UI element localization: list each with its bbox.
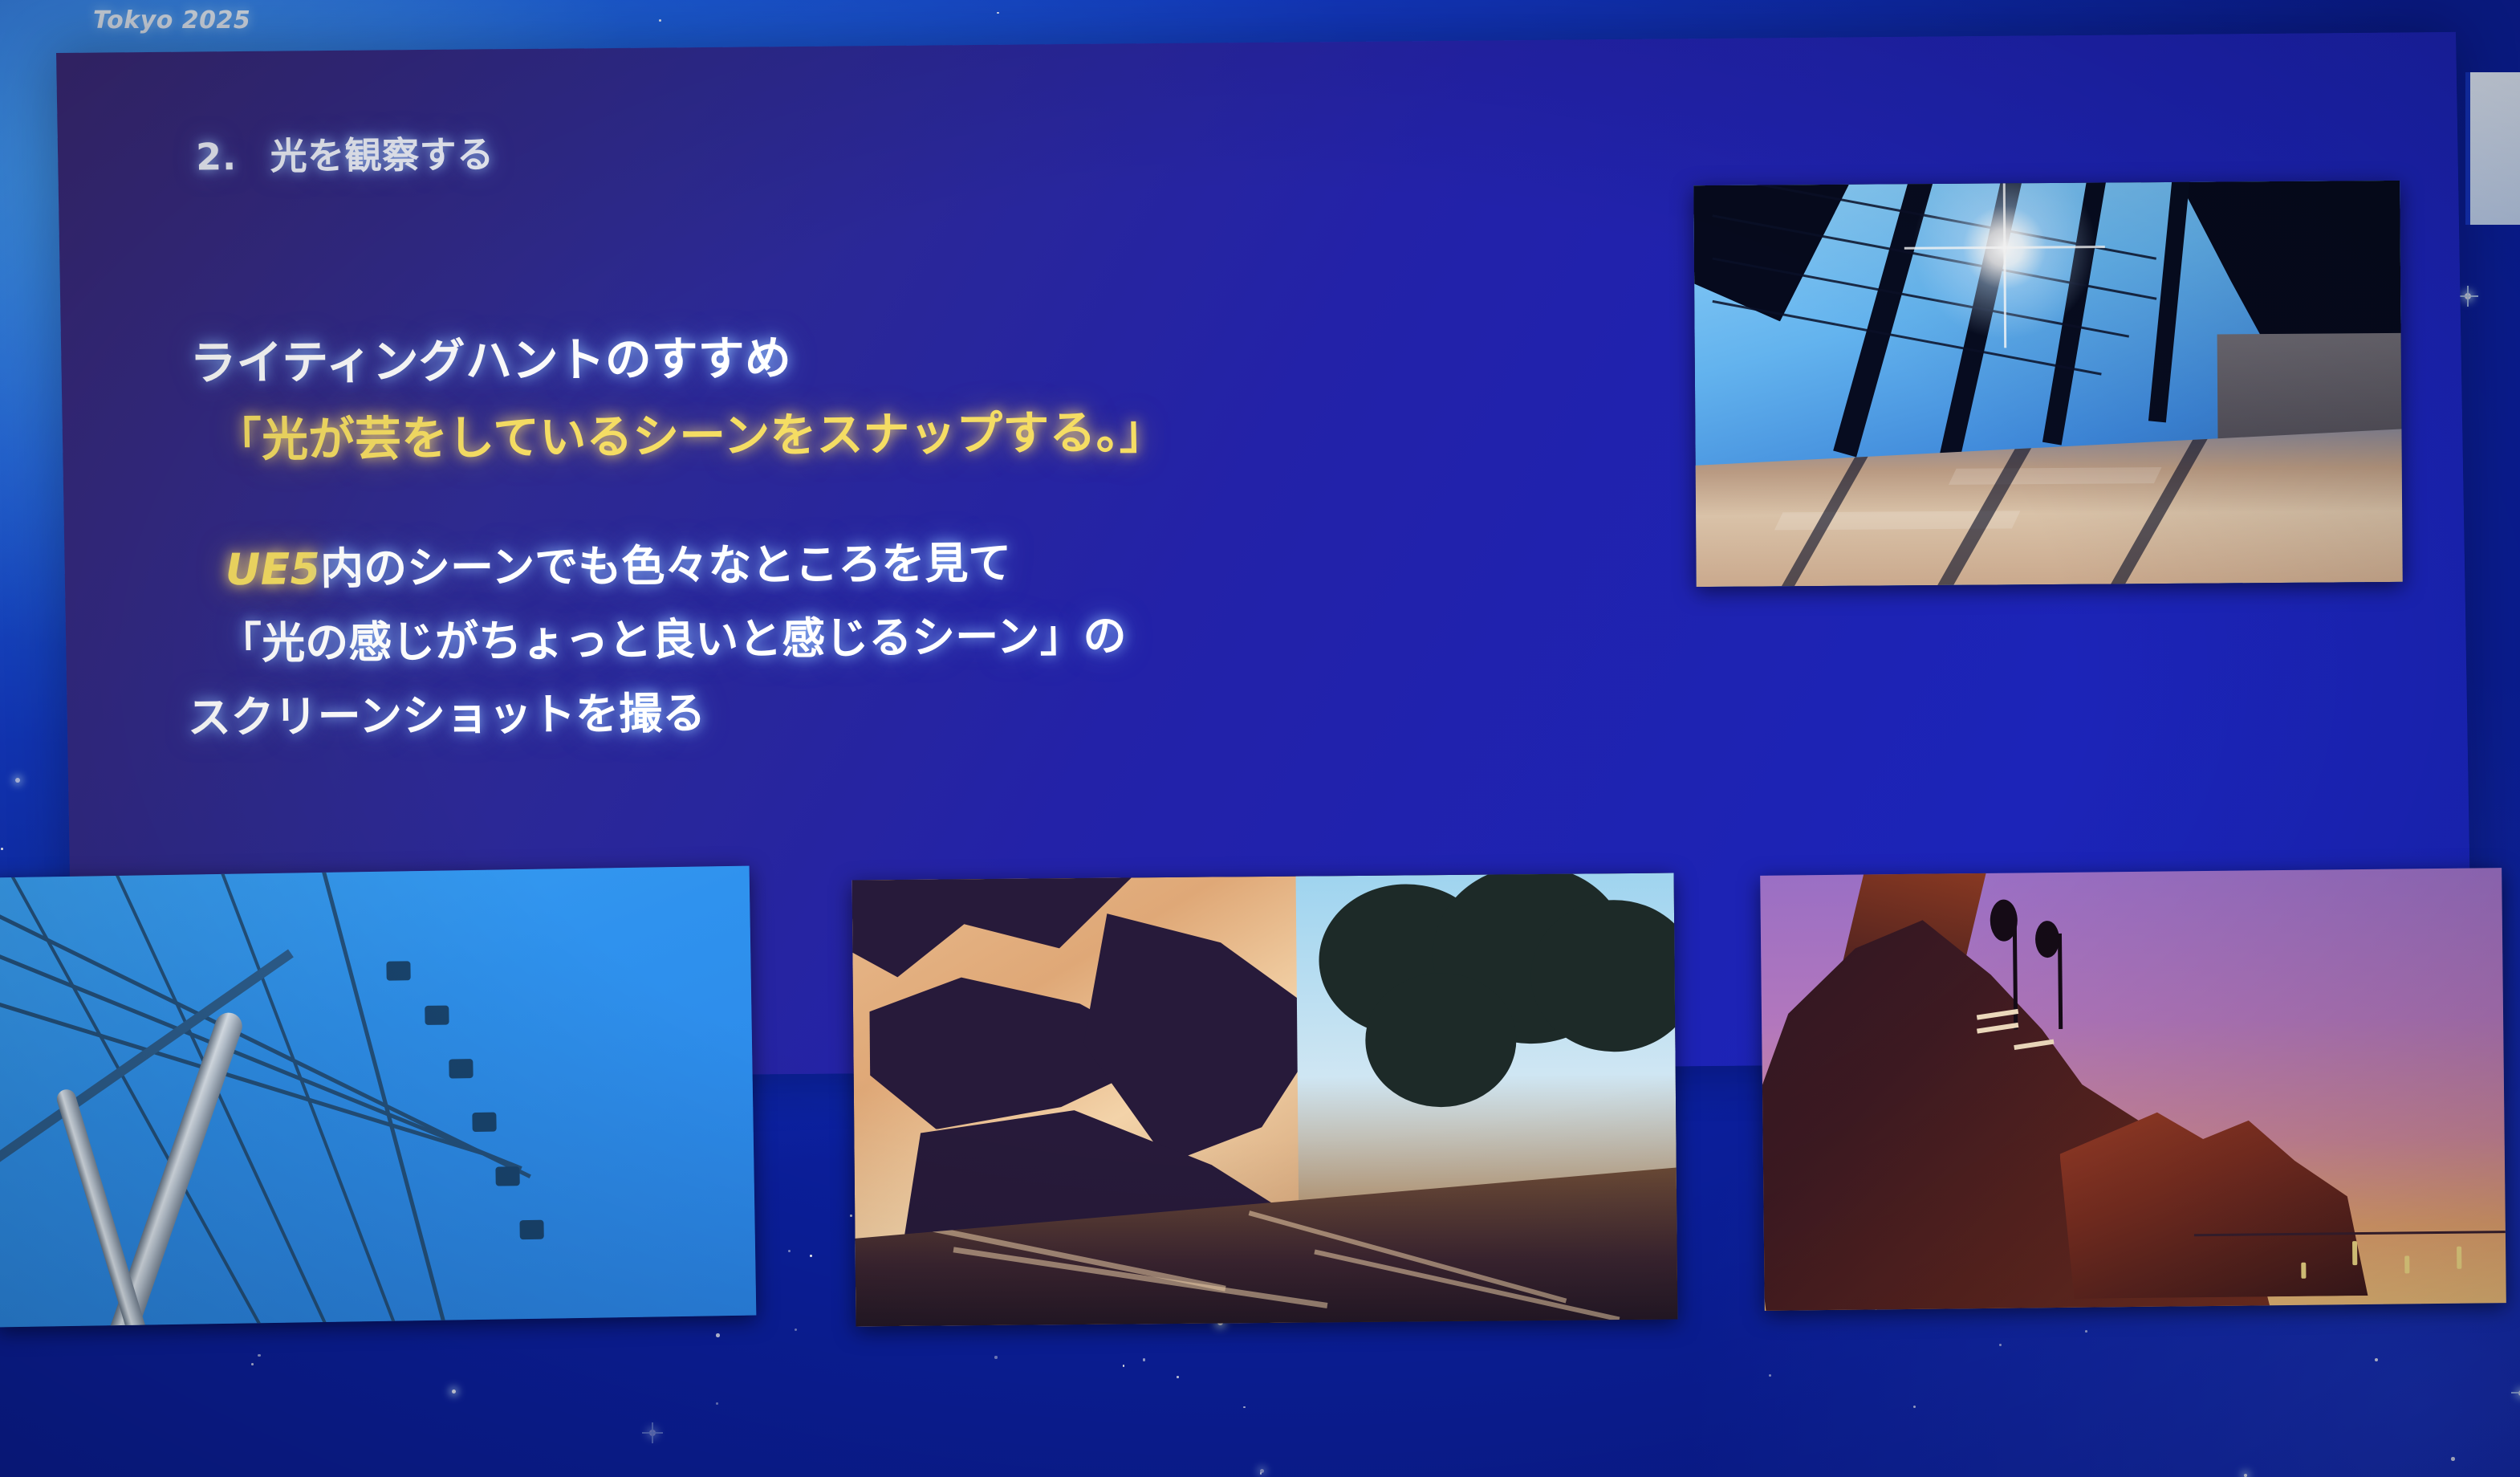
- star: [994, 1356, 997, 1358]
- excavator-city-light: [2301, 1263, 2306, 1279]
- star: [2465, 293, 2471, 299]
- adjacent-screen-edge: [2465, 72, 2520, 225]
- star: [795, 1328, 797, 1331]
- bikes-light-streak: [1315, 1250, 1620, 1322]
- slide-paragraph-2: UE5内のシーンでも色々なところを見て 「光の感じがちょっと良いと感じるシーン」…: [193, 525, 1128, 755]
- bikes-light-streak: [953, 1247, 1327, 1308]
- star: [1913, 1406, 1916, 1408]
- excavator-city-light: [2404, 1255, 2409, 1273]
- event-badge-tokyo-2025: Tokyo 2025: [93, 6, 250, 35]
- projected-presentation-screen: Tokyo 2025 2.光を観察する ライティングハントのすすめ 「光が芸をし…: [0, 0, 2520, 1477]
- star: [997, 12, 998, 14]
- star: [258, 1354, 260, 1357]
- star: [1, 848, 3, 850]
- paragraph1-line2: 「光が芸をしているシーンをスナップする。」: [214, 393, 1166, 478]
- ferris-cabin: [449, 1059, 473, 1078]
- star: [1123, 1365, 1125, 1367]
- star: [716, 1402, 718, 1405]
- excavator-city-light: [2457, 1246, 2461, 1268]
- slide-section-heading: 2.光を観察する: [196, 125, 495, 181]
- star: [2375, 1358, 2378, 1361]
- star: [810, 1255, 812, 1257]
- star: [1260, 1469, 1264, 1473]
- paragraph2-line3: スクリーンショットを撮る: [187, 673, 1128, 755]
- ferris-cabin: [472, 1113, 496, 1132]
- excavator-dusk-photo: [1760, 868, 2506, 1311]
- bikes-tree: [1364, 973, 1517, 1108]
- excavator-mirror: [2035, 921, 2059, 958]
- excavator-city-light: [2352, 1241, 2357, 1265]
- star: [716, 1333, 720, 1337]
- ferris-cabin: [386, 961, 410, 980]
- section-title: 光を観察する: [270, 132, 494, 177]
- slide-paragraph-1: ライティングハントのすすめ 「光が芸をしているシーンをスナップする。」: [189, 316, 1167, 479]
- paragraph2-line1: UE5内のシーンでも色々なところを見て: [225, 525, 1126, 607]
- ferris-cabin: [425, 1006, 449, 1025]
- star: [1177, 1376, 1178, 1377]
- star: [850, 1215, 852, 1217]
- star: [1143, 1358, 1146, 1361]
- star: [2451, 1457, 2455, 1461]
- bikes-light-streak: [1248, 1210, 1566, 1303]
- excavator-mirror-stalk: [2058, 934, 2063, 1029]
- star: [1260, 1472, 1262, 1474]
- glass-atrium-sun-flare-photo: [1693, 181, 2402, 587]
- bicycle-shadows-photo: [852, 873, 1678, 1327]
- ferris-cabin: [496, 1166, 520, 1186]
- star: [649, 1430, 656, 1437]
- ferris-strut: [0, 949, 294, 1182]
- star: [1769, 1374, 1771, 1377]
- star: [452, 1390, 456, 1394]
- star: [2244, 1474, 2247, 1477]
- ferris-wheel-photo: [0, 866, 756, 1328]
- ferris-cabin: [519, 1219, 543, 1239]
- star: [788, 1250, 791, 1252]
- star: [251, 1363, 254, 1365]
- paragraph2-line1-rest: 内のシーンでも色々なところを見て: [319, 538, 1011, 595]
- star: [659, 19, 661, 22]
- paragraph2-line2: 「光の感じがちょっと良いと感じるシーン」の: [217, 599, 1127, 681]
- ferris-lattice: [214, 866, 429, 1328]
- atrium-sun-flare: [1912, 181, 2098, 340]
- ue5-emphasis: UE5: [225, 543, 320, 595]
- section-number: 2.: [196, 135, 237, 178]
- star: [15, 778, 20, 783]
- atrium-floor-tile: [1949, 467, 2162, 485]
- paragraph1-line1: ライティングハントのすすめ: [189, 316, 1165, 402]
- star: [1243, 1406, 1245, 1408]
- star: [1999, 1344, 2002, 1346]
- star: [2085, 1330, 2087, 1333]
